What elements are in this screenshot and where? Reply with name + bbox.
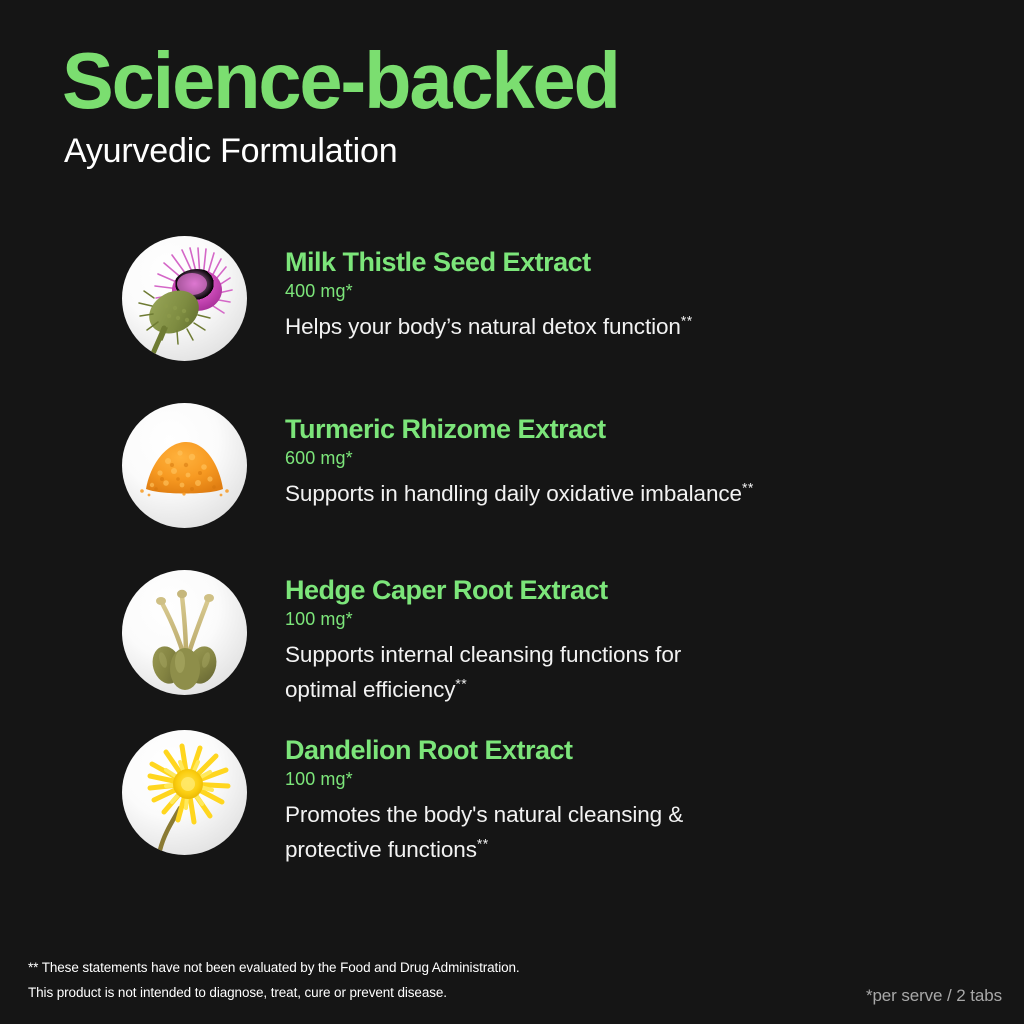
footnote-marker: ** (477, 836, 489, 852)
ingredient-name: Hedge Caper Root Extract (285, 576, 681, 604)
ingredient-list: Milk Thistle Seed Extract 400 mg* Helps … (0, 236, 1024, 868)
ingredient-dose: 400 mg* (285, 282, 693, 300)
ingredient-description: Helps your body’s natural detox function… (285, 310, 693, 345)
description-line-1: Supports internal cleansing functions fo… (285, 642, 681, 667)
description-line-1: Promotes the body's natural cleansing & (285, 802, 683, 827)
footnote-marker: ** (742, 480, 754, 496)
ingredient-dose: 100 mg* (285, 610, 681, 628)
description-line-2: optimal efficiency (285, 677, 455, 702)
dandelion-flower-icon (122, 730, 247, 855)
milk-thistle-flower-icon (122, 236, 247, 361)
header: Science-backed Ayurvedic Formulation (62, 42, 962, 171)
page-subtitle: Ayurvedic Formulation (64, 132, 962, 171)
list-item: Milk Thistle Seed Extract 400 mg* Helps … (0, 236, 1024, 361)
list-item: Dandelion Root Extract 100 mg* Promotes … (0, 730, 1024, 868)
disclaimer-line-2: This product is not intended to diagnose… (28, 981, 520, 1006)
turmeric-powder-icon (122, 403, 247, 528)
ingredient-name: Dandelion Root Extract (285, 736, 683, 764)
list-item: Turmeric Rhizome Extract 600 mg* Support… (0, 403, 1024, 528)
ingredient-info: Turmeric Rhizome Extract 600 mg* Support… (285, 403, 754, 512)
ingredient-info: Hedge Caper Root Extract 100 mg* Support… (285, 570, 681, 708)
description-text: Helps your body’s natural detox function (285, 314, 681, 339)
footnote-marker: ** (455, 676, 467, 692)
description-text: Supports in handling daily oxidative imb… (285, 481, 742, 506)
description-line-2: protective functions (285, 837, 477, 862)
ingredient-dose: 100 mg* (285, 770, 683, 788)
ingredient-dose: 600 mg* (285, 449, 754, 467)
caperberry-icon (122, 570, 247, 695)
fda-disclaimer: ** These statements have not been evalua… (28, 956, 520, 1006)
ingredient-description: Promotes the body's natural cleansing &p… (285, 798, 683, 868)
ingredient-info: Milk Thistle Seed Extract 400 mg* Helps … (285, 236, 693, 345)
page-title: Science-backed (62, 42, 935, 120)
serving-note: *per serve / 2 tabs (866, 986, 1002, 1006)
ingredient-description: Supports internal cleansing functions fo… (285, 638, 681, 708)
ingredient-info: Dandelion Root Extract 100 mg* Promotes … (285, 730, 683, 868)
footnote-marker: ** (681, 313, 693, 329)
list-item: Hedge Caper Root Extract 100 mg* Support… (0, 570, 1024, 708)
ingredient-name: Milk Thistle Seed Extract (285, 248, 693, 276)
disclaimer-line-1: ** These statements have not been evalua… (28, 956, 520, 981)
infographic-page: Science-backed Ayurvedic Formulation (0, 0, 1024, 1024)
ingredient-name: Turmeric Rhizome Extract (285, 415, 754, 443)
ingredient-description: Supports in handling daily oxidative imb… (285, 477, 754, 512)
